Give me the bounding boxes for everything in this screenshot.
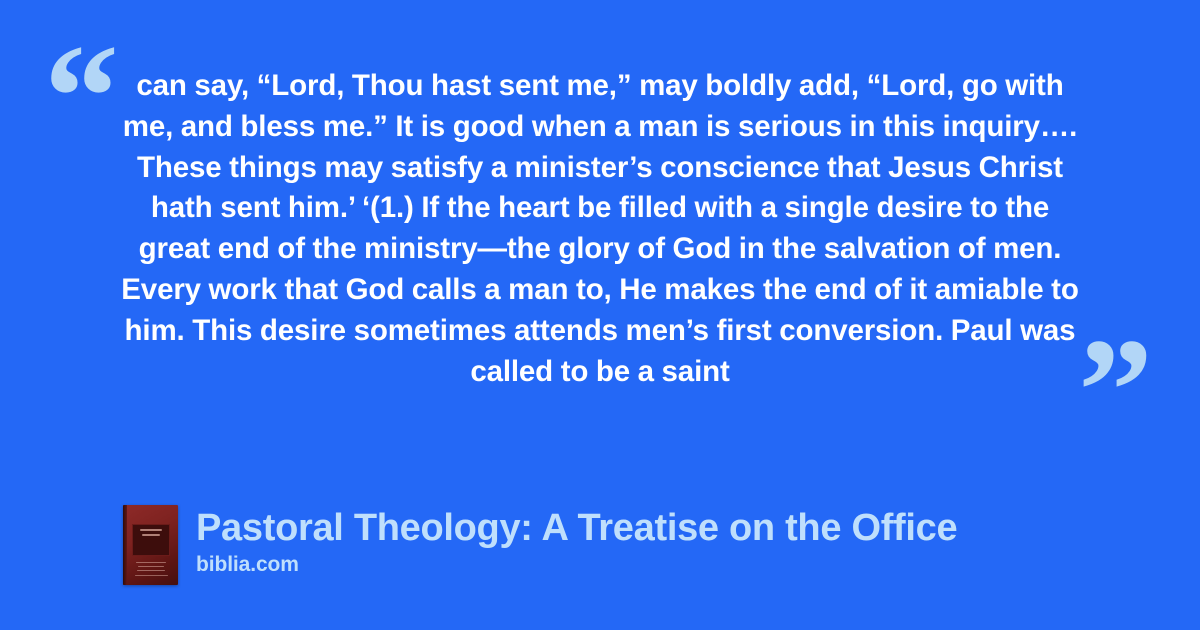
book-spine (123, 505, 127, 585)
close-quote-icon: ” (1078, 316, 1153, 466)
attribution-text-block: Pastoral Theology: A Treatise on the Off… (196, 505, 957, 578)
book-cover-icon[interactable] (123, 505, 178, 585)
subtitle-line (138, 566, 165, 568)
plate-title-line (140, 529, 162, 531)
quote-text: can say, “Lord, Thou hast sent me,” may … (112, 66, 1088, 392)
book-cover-author-line (135, 575, 168, 577)
book-cover-subtitle-block (133, 559, 169, 571)
book-cover-title-plate (132, 524, 170, 556)
subtitle-line (136, 562, 167, 564)
plate-title-line (142, 534, 159, 536)
book-title[interactable]: Pastoral Theology: A Treatise on the Off… (196, 506, 957, 550)
open-quote-icon: “ (44, 22, 119, 172)
site-name[interactable]: biblia.com (196, 552, 957, 578)
subtitle-line (137, 570, 166, 572)
source-attribution[interactable]: Pastoral Theology: A Treatise on the Off… (123, 505, 957, 585)
quote-card: “ can say, “Lord, Thou hast sent me,” ma… (0, 0, 1200, 630)
